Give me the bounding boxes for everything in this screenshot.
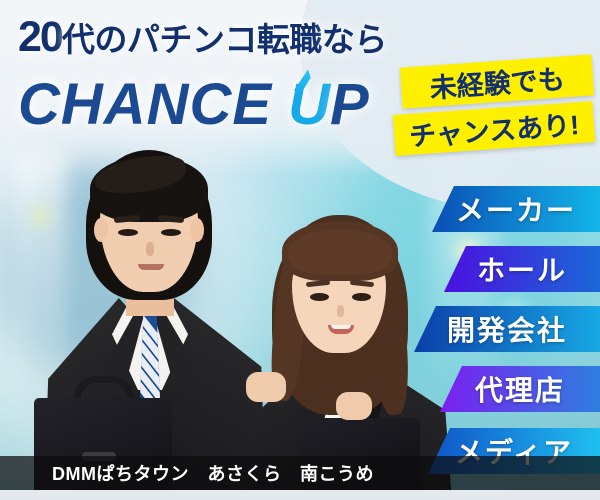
logotype-u: U — [288, 72, 330, 137]
hand-right — [336, 392, 372, 420]
logotype-up: UP — [288, 76, 370, 134]
bottom-strip — [0, 490, 600, 500]
man-eye-left — [118, 229, 138, 236]
headline-part-a: 代のパチンコ転職 — [62, 21, 322, 58]
recruitment-banner[interactable]: 20代のパチンコ転職なら CHANCE UP 未経験でも チャンスあり! メーカ… — [0, 0, 600, 500]
woman-bangs — [288, 229, 392, 275]
woman-eye-right — [352, 293, 371, 301]
man-nose — [146, 242, 154, 256]
logotype-chance: CHANCE — [18, 76, 272, 134]
headline-number: 20 — [18, 13, 62, 61]
caption-band: DMMぱちタウン あさくら 南こうめ — [0, 456, 600, 490]
man-mouth — [138, 264, 164, 270]
man-eye-right — [161, 229, 181, 236]
headline: 20代のパチンコ転職なら — [18, 16, 438, 59]
man-ear-left — [94, 218, 108, 242]
category-button-agency[interactable]: 代理店 — [440, 366, 600, 412]
woman-teeth — [331, 325, 351, 329]
headline-part-b: なら — [322, 21, 387, 58]
logotype-p: P — [330, 72, 370, 137]
category-button-hall[interactable]: ホール — [444, 246, 600, 292]
hand-left — [246, 372, 286, 402]
man-ear-right — [190, 218, 204, 242]
chance-up-logotype: CHANCE UP — [18, 74, 370, 136]
woman-eye-left — [310, 293, 329, 301]
woman-nose — [337, 305, 344, 317]
category-button-developer[interactable]: 開発会社 — [414, 306, 600, 352]
category-button-maker[interactable]: メーカー — [432, 186, 600, 232]
caption-text: DMMぱちタウン あさくら 南こうめ — [52, 460, 374, 486]
